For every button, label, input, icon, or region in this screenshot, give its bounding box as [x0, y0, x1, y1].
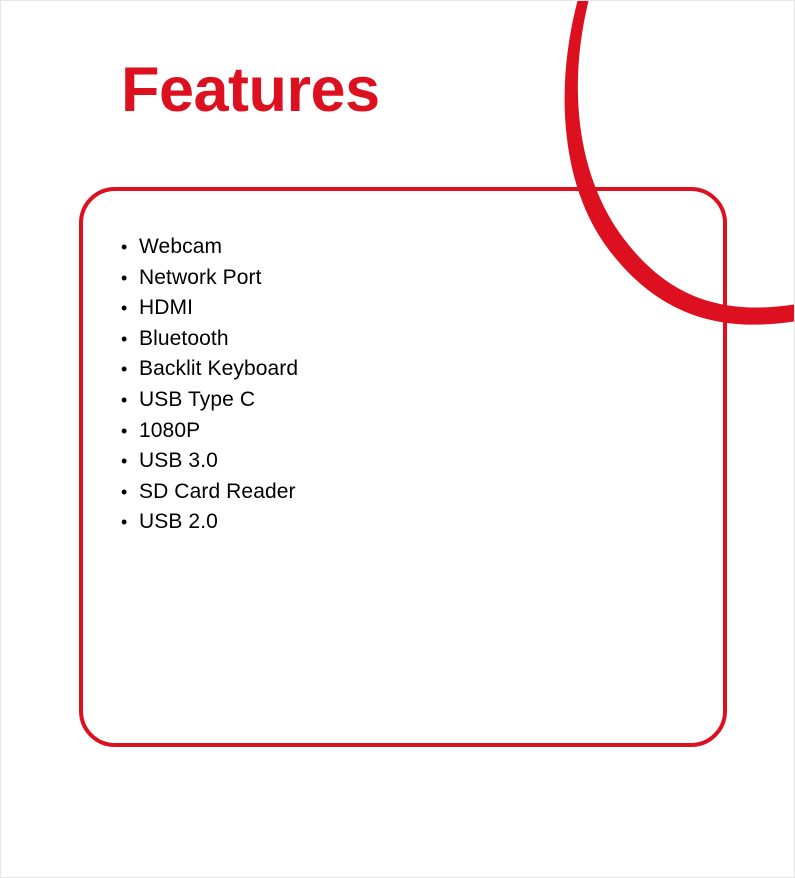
bullet-icon: •	[121, 483, 139, 501]
bullet-icon: •	[121, 452, 139, 470]
list-item-label: Backlit Keyboard	[139, 357, 298, 381]
list-item-label: 1080P	[139, 419, 200, 443]
list-item-label: SD Card Reader	[139, 480, 296, 504]
list-item: • Backlit Keyboard	[121, 357, 298, 388]
features-card: • Webcam • Network Port • HDMI • Bluetoo…	[79, 187, 727, 747]
features-list: • Webcam • Network Port • HDMI • Bluetoo…	[121, 235, 298, 541]
list-item: • 1080P	[121, 419, 298, 450]
bullet-icon: •	[121, 299, 139, 317]
list-item-label: HDMI	[139, 296, 193, 320]
list-item: • Network Port	[121, 266, 298, 297]
list-item: • Webcam	[121, 235, 298, 266]
list-item: • USB 3.0	[121, 449, 298, 480]
slide-canvas: Features • Webcam • Network Port • HDMI …	[0, 0, 795, 878]
bullet-icon: •	[121, 513, 139, 531]
bullet-icon: •	[121, 422, 139, 440]
bullet-icon: •	[121, 269, 139, 287]
list-item: • USB Type C	[121, 388, 298, 419]
list-item: • SD Card Reader	[121, 480, 298, 511]
list-item-label: Bluetooth	[139, 327, 229, 351]
bullet-icon: •	[121, 391, 139, 409]
page-title: Features	[121, 57, 380, 123]
list-item-label: Network Port	[139, 266, 262, 290]
bullet-icon: •	[121, 330, 139, 348]
list-item: • USB 2.0	[121, 510, 298, 541]
list-item-label: USB 2.0	[139, 510, 218, 534]
list-item-label: USB 3.0	[139, 449, 218, 473]
list-item-label: Webcam	[139, 235, 222, 259]
bullet-icon: •	[121, 238, 139, 256]
list-item: • HDMI	[121, 296, 298, 327]
bullet-icon: •	[121, 360, 139, 378]
list-item: • Bluetooth	[121, 327, 298, 358]
list-item-label: USB Type C	[139, 388, 255, 412]
